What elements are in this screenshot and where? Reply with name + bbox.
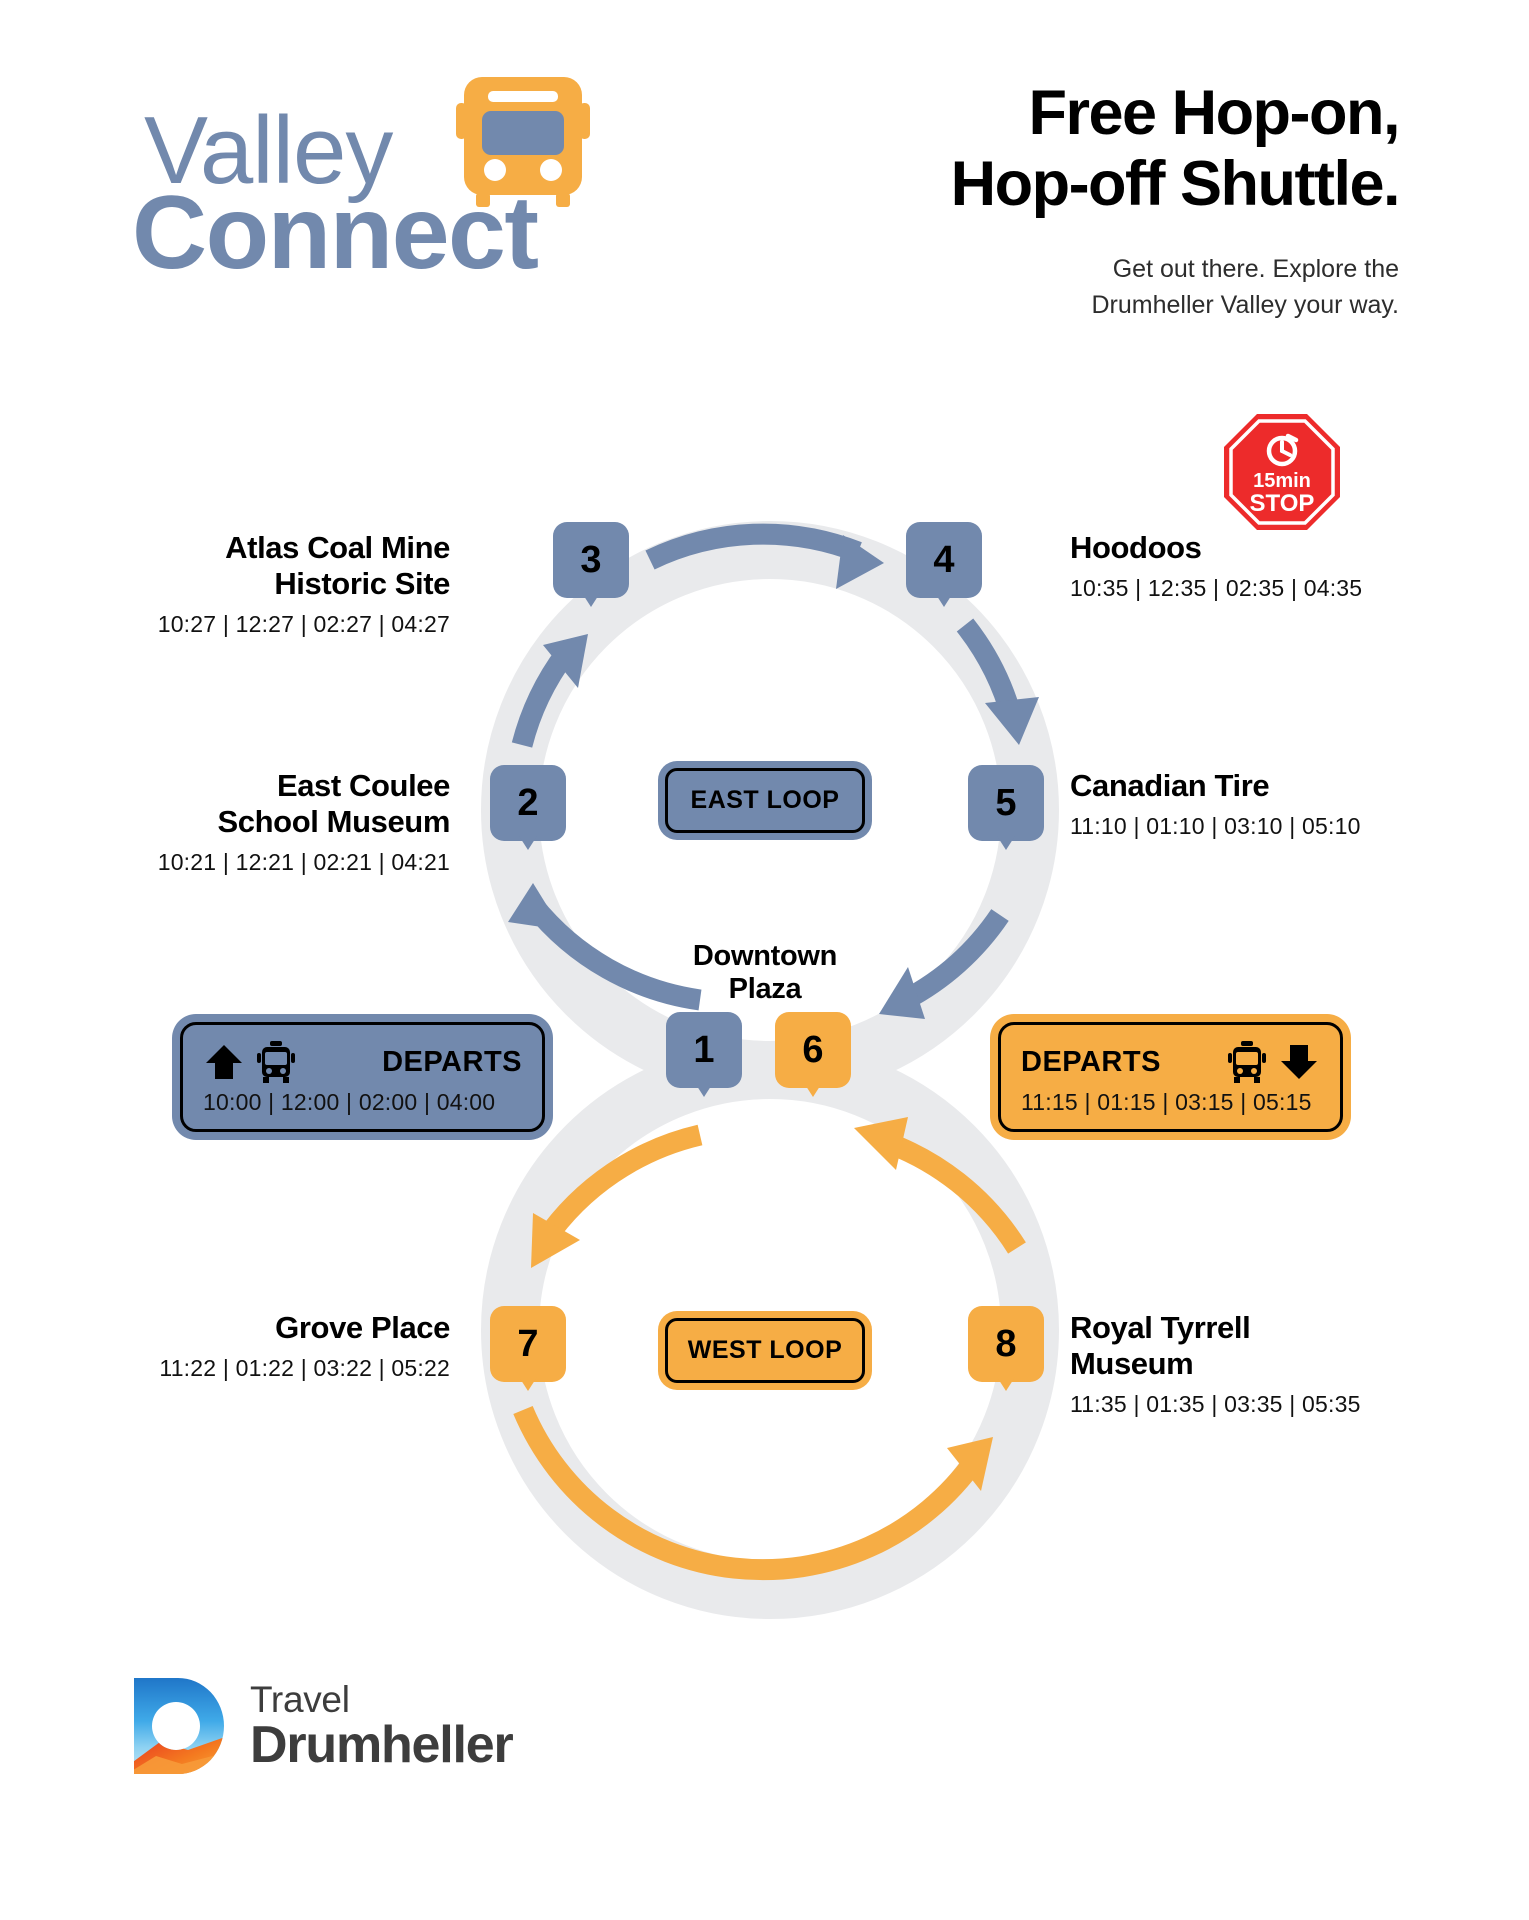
plaza-line-1: Downtown <box>660 940 870 973</box>
bus-icon <box>1228 1041 1266 1083</box>
stop-marker-6[interactable]: 6 <box>775 1012 851 1088</box>
stop-8-name-line1: Royal Tyrrell <box>1070 1310 1460 1346</box>
stop-label-east-coulee: East Coulee School Museum 10:21 | 12:21 … <box>100 768 450 876</box>
footer-travel-text: Travel <box>250 1681 513 1718</box>
stop-5-times: 11:10 | 01:10 | 03:10 | 05:10 <box>1070 813 1460 840</box>
stop-label-atlas-coal-mine: Atlas Coal Mine Historic Site 10:27 | 12… <box>100 530 450 638</box>
stop-4-times: 10:35 | 12:35 | 02:35 | 04:35 <box>1070 575 1460 602</box>
west-arrow-8-1 <box>854 1117 1017 1248</box>
stop-2-times: 10:21 | 12:21 | 02:21 | 04:21 <box>100 849 450 876</box>
headline-line-1: Free Hop-on, <box>639 78 1399 149</box>
travel-drumheller-logo-icon <box>130 1672 228 1780</box>
west-loop-badge: WEST LOOP <box>665 1318 865 1383</box>
stop-2-name-line2: School Museum <box>100 804 450 840</box>
departs-box-east[interactable]: DEPARTS 10:00 | 12:00 | 02:00 | 04:00 <box>180 1022 545 1132</box>
arrow-down-icon <box>1278 1041 1320 1083</box>
east-arrow-4-5 <box>965 625 1039 745</box>
subtitle-line-2: Drumheller Valley your way. <box>779 288 1399 324</box>
stop-label-hoodoos: Hoodoos 10:35 | 12:35 | 02:35 | 04:35 <box>1070 530 1460 602</box>
hoodoos-15min-stop-badge: 15min STOP <box>1222 412 1342 532</box>
stop-5-name: Canadian Tire <box>1070 768 1460 804</box>
headline-line-2: Hop-off Shuttle. <box>639 149 1399 220</box>
stop-marker-1[interactable]: 1 <box>666 1012 742 1088</box>
stop-marker-1-number: 1 <box>693 1029 714 1072</box>
stop-marker-4[interactable]: 4 <box>906 522 982 598</box>
page-headline: Free Hop-on, Hop-off Shuttle. <box>639 78 1399 219</box>
valley-connect-logo: Valley Connect <box>130 75 650 280</box>
stop-label-royal-tyrrell: Royal Tyrrell Museum 11:35 | 01:35 | 03:… <box>1070 1310 1460 1418</box>
page-subtitle: Get out there. Explore the Drumheller Va… <box>779 252 1399 323</box>
stop-marker-8-number: 8 <box>995 1323 1016 1366</box>
stop-marker-7-number: 7 <box>517 1323 538 1366</box>
stop-duration-text: 15min <box>1253 470 1311 492</box>
stop-marker-5-number: 5 <box>995 782 1016 825</box>
departs-west-times: 11:15 | 01:15 | 03:15 | 05:15 <box>1021 1089 1320 1116</box>
west-loop-label: WEST LOOP <box>688 1336 843 1365</box>
departs-box-west[interactable]: DEPARTS 11:15 | 01:15 | 03:15 | 05:15 <box>998 1022 1343 1132</box>
stop-marker-8[interactable]: 8 <box>968 1306 1044 1382</box>
east-loop-label: EAST LOOP <box>691 786 840 815</box>
stop-3-name-line2: Historic Site <box>100 566 450 602</box>
east-loop-badge: EAST LOOP <box>665 768 865 833</box>
stop-label-grove-place: Grove Place 11:22 | 01:22 | 03:22 | 05:2… <box>100 1310 450 1382</box>
stop-word-text: STOP <box>1250 490 1315 517</box>
stop-8-name-line2: Museum <box>1070 1346 1460 1382</box>
departs-west-label: DEPARTS <box>1021 1046 1161 1079</box>
west-arrow-7-8 <box>523 1410 993 1570</box>
stop-8-times: 11:35 | 01:35 | 03:35 | 05:35 <box>1070 1391 1460 1418</box>
downtown-plaza-label: Downtown Plaza <box>660 940 870 1006</box>
stop-marker-2-number: 2 <box>517 782 538 825</box>
stop-marker-3[interactable]: 3 <box>553 522 629 598</box>
arrow-up-icon <box>203 1041 245 1083</box>
stop-7-name: Grove Place <box>100 1310 450 1346</box>
bus-icon <box>257 1041 295 1083</box>
stop-marker-2[interactable]: 2 <box>490 765 566 841</box>
subtitle-line-1: Get out there. Explore the <box>779 252 1399 288</box>
east-arrow-5-6 <box>879 915 1000 1019</box>
footer-drumheller-text: Drumheller <box>250 1719 513 1771</box>
stop-marker-6-number: 6 <box>802 1029 823 1072</box>
shuttle-route-poster: Valley Connect Free Hop-on, Hop-off Shut… <box>0 0 1529 1920</box>
stop-3-name-line1: Atlas Coal Mine <box>100 530 450 566</box>
east-arrow-3-4 <box>650 534 884 589</box>
stop-4-name: Hoodoos <box>1070 530 1460 566</box>
stop-marker-7[interactable]: 7 <box>490 1306 566 1382</box>
plaza-line-2: Plaza <box>660 973 870 1006</box>
stop-marker-3-number: 3 <box>580 539 601 582</box>
stop-marker-5[interactable]: 5 <box>968 765 1044 841</box>
east-arrow-2-3 <box>522 634 588 745</box>
travel-drumheller-footer: Travel Drumheller <box>130 1672 513 1780</box>
departs-east-times: 10:00 | 12:00 | 02:00 | 04:00 <box>203 1089 522 1116</box>
stop-2-name-line1: East Coulee <box>100 768 450 804</box>
stop-3-times: 10:27 | 12:27 | 02:27 | 04:27 <box>100 611 450 638</box>
departs-east-label: DEPARTS <box>382 1046 522 1079</box>
stop-label-canadian-tire: Canadian Tire 11:10 | 01:10 | 03:10 | 05… <box>1070 768 1460 840</box>
stop-marker-4-number: 4 <box>933 539 954 582</box>
west-arrow-6-7 <box>531 1135 700 1268</box>
stop-7-times: 11:22 | 01:22 | 03:22 | 05:22 <box>100 1355 450 1382</box>
bus-front-icon <box>448 75 598 210</box>
